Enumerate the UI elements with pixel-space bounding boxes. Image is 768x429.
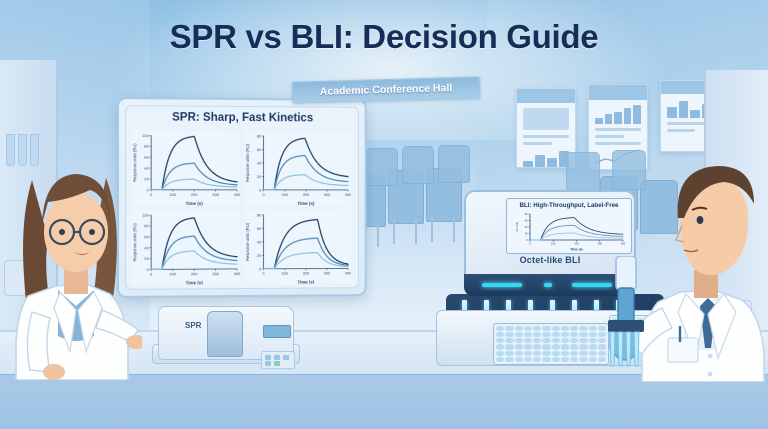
sensorgram-plot-3: 0204060801000100200300400Time (s)Respons… [131, 210, 240, 285]
plate-well [552, 338, 560, 343]
seat-back [366, 148, 398, 186]
plate-well [561, 326, 569, 331]
svg-text:20: 20 [144, 176, 149, 181]
poster-text-line [523, 142, 552, 145]
status-led [544, 283, 552, 287]
svg-text:Time (s): Time (s) [186, 201, 204, 206]
microplate-96-well[interactable] [493, 323, 609, 365]
plate-well [561, 357, 569, 362]
seat-back [566, 152, 600, 192]
plate-well [496, 357, 504, 362]
svg-text:Response units (RU): Response units (RU) [132, 143, 137, 182]
plate-well [496, 351, 504, 356]
svg-text:0: 0 [262, 192, 265, 197]
plate-well [533, 344, 541, 349]
svg-text:100: 100 [282, 192, 289, 197]
plate-well [570, 344, 578, 349]
plate-well [570, 332, 578, 337]
svg-text:0: 0 [150, 192, 153, 197]
svg-text:300: 300 [212, 271, 219, 276]
plate-well [579, 344, 587, 349]
svg-text:80: 80 [144, 144, 149, 149]
plate-well [579, 338, 587, 343]
svg-text:40: 40 [525, 225, 528, 229]
seat-leg [393, 219, 395, 244]
svg-text:20: 20 [257, 252, 262, 257]
svg-text:40: 40 [144, 166, 149, 171]
svg-text:200: 200 [574, 242, 579, 246]
status-led [482, 283, 522, 287]
plate-well [570, 357, 578, 362]
plate-well [515, 332, 523, 337]
svg-text:400: 400 [234, 270, 240, 275]
svg-text:Time (s): Time (s) [297, 279, 314, 284]
plate-well [533, 357, 541, 362]
svg-text:Time (s): Time (s) [570, 247, 582, 251]
svg-text:Response units (RU): Response units (RU) [132, 222, 137, 261]
svg-text:100: 100 [282, 270, 289, 275]
spr-instrument[interactable]: SPR [150, 296, 300, 368]
plate-well [505, 351, 513, 356]
svg-text:100: 100 [169, 271, 176, 276]
plate-well [570, 338, 578, 343]
seat-leg [415, 219, 417, 244]
plate-well [579, 326, 587, 331]
svg-text:300: 300 [324, 270, 331, 275]
plate-well [505, 344, 513, 349]
spr-keypad-button[interactable] [274, 361, 280, 366]
svg-text:Response units (RU): Response units (RU) [245, 143, 250, 182]
plate-well [496, 344, 504, 349]
svg-text:200: 200 [191, 271, 198, 276]
plate-well [496, 326, 504, 331]
plate-well [496, 338, 504, 343]
svg-text:400: 400 [234, 192, 240, 197]
svg-text:80: 80 [525, 212, 528, 216]
plate-well [505, 332, 513, 337]
svg-text:80: 80 [144, 223, 149, 228]
plate-well [505, 357, 513, 362]
spr-keypad-button[interactable] [265, 355, 271, 360]
svg-text:100: 100 [169, 192, 176, 197]
svg-text:0: 0 [150, 271, 153, 276]
svg-text:100: 100 [142, 212, 149, 217]
plate-well [496, 332, 504, 337]
plate-well [515, 351, 523, 356]
illustration-scene: SPR: Sharp, Fast Kinetics 02040608010001… [0, 0, 768, 429]
plate-well [515, 326, 523, 331]
plate-well [561, 338, 569, 343]
plate-well [515, 357, 523, 362]
svg-text:0: 0 [262, 270, 265, 275]
audience-seat [402, 146, 432, 198]
plate-well [542, 351, 550, 356]
spr-keypad[interactable] [261, 351, 295, 369]
svg-text:300: 300 [598, 242, 603, 246]
plate-well [552, 351, 560, 356]
plate-well [579, 351, 587, 356]
sensorgram-grid: 0204060801000100200300400Time (s)Respons… [131, 130, 351, 283]
plate-well [524, 344, 532, 349]
svg-text:200: 200 [303, 192, 310, 197]
poster-bar-chart [595, 104, 641, 124]
plate-well [561, 344, 569, 349]
svg-text:40: 40 [257, 239, 262, 244]
plate-well [505, 326, 513, 331]
seat-back [402, 146, 434, 184]
plate-well [552, 332, 560, 337]
svg-text:60: 60 [144, 234, 149, 239]
spr-keypad-button[interactable] [274, 355, 280, 360]
svg-text:400: 400 [345, 270, 351, 275]
poster-bar-chart [523, 149, 569, 168]
plate-well [542, 332, 550, 337]
plate-well [533, 338, 541, 343]
svg-text:nm shift: nm shift [515, 222, 519, 232]
sensorgram-plot-4: 0204060800100200300400Time (s)Response u… [244, 210, 351, 285]
spr-keypad-button[interactable] [283, 355, 289, 360]
spr-sample-head [207, 311, 243, 357]
seat-back [438, 145, 470, 183]
spr-instrument-label: SPR [185, 321, 201, 330]
svg-text:100: 100 [551, 242, 556, 246]
page-title: SPR vs BLI: Decision Guide [0, 18, 768, 56]
svg-text:200: 200 [303, 270, 310, 275]
svg-text:400: 400 [345, 192, 351, 197]
svg-text:60: 60 [525, 218, 528, 222]
spr-monitor[interactable]: SPR: Sharp, Fast Kinetics 02040608010001… [117, 97, 367, 298]
plate-well [533, 351, 541, 356]
sensorgram-plot-2: 0204060800100200300400Time (s)Response u… [244, 131, 351, 206]
svg-text:0: 0 [526, 238, 528, 242]
svg-text:Time (s): Time (s) [297, 201, 314, 206]
plate-well [524, 351, 532, 356]
plate-well [542, 338, 550, 343]
svg-text:0: 0 [529, 242, 531, 246]
poster-header-band [517, 89, 575, 103]
plate-well [579, 332, 587, 337]
svg-text:60: 60 [257, 147, 262, 152]
plate-well [570, 351, 578, 356]
svg-text:20: 20 [525, 231, 528, 235]
svg-text:100: 100 [142, 133, 149, 138]
plate-well [524, 326, 532, 331]
poster-image-block [523, 108, 569, 130]
plate-well [505, 338, 513, 343]
spr-display [263, 325, 291, 338]
banner-label: Academic Conference Hall [293, 77, 479, 102]
svg-text:200: 200 [191, 192, 198, 197]
sensorgram-plot-1: 0204060801000100200300400Time (s)Respons… [131, 130, 240, 205]
svg-text:300: 300 [212, 192, 219, 197]
plate-well [524, 357, 532, 362]
plate-well [542, 357, 550, 362]
svg-text:20: 20 [144, 256, 149, 261]
plate-well [552, 344, 560, 349]
plate-well [542, 344, 550, 349]
spr-keypad-button[interactable] [265, 361, 271, 366]
multichannel-pipette [594, 256, 664, 380]
svg-text:40: 40 [257, 160, 262, 165]
svg-text:Time (s): Time (s) [186, 280, 204, 285]
plate-well [579, 357, 587, 362]
plate-well [542, 326, 550, 331]
plate-well [561, 351, 569, 356]
seat-leg [377, 223, 379, 247]
plate-well [515, 338, 523, 343]
svg-text:300: 300 [324, 192, 331, 197]
plate-well [515, 344, 523, 349]
poster-text-line [523, 135, 569, 138]
svg-text:40: 40 [144, 245, 149, 250]
plate-well [524, 338, 532, 343]
svg-text:80: 80 [257, 212, 262, 217]
monitor-title: SPR: Sharp, Fast Kinetics [119, 111, 365, 124]
svg-text:20: 20 [257, 174, 262, 179]
plate-well [524, 332, 532, 337]
plate-well [533, 326, 541, 331]
plate-well [561, 332, 569, 337]
plate-well [552, 326, 560, 331]
svg-text:60: 60 [144, 155, 149, 160]
svg-text:80: 80 [257, 133, 262, 138]
poster-header-band [589, 85, 647, 100]
plate-well [570, 326, 578, 331]
plate-well [533, 332, 541, 337]
svg-text:60: 60 [257, 225, 262, 230]
spr-body: SPR [158, 306, 294, 360]
plate-well [552, 357, 560, 362]
lab-bench-front-panel [0, 374, 768, 429]
svg-text:Response units (RU): Response units (RU) [245, 222, 250, 261]
audience-seat [366, 148, 396, 200]
